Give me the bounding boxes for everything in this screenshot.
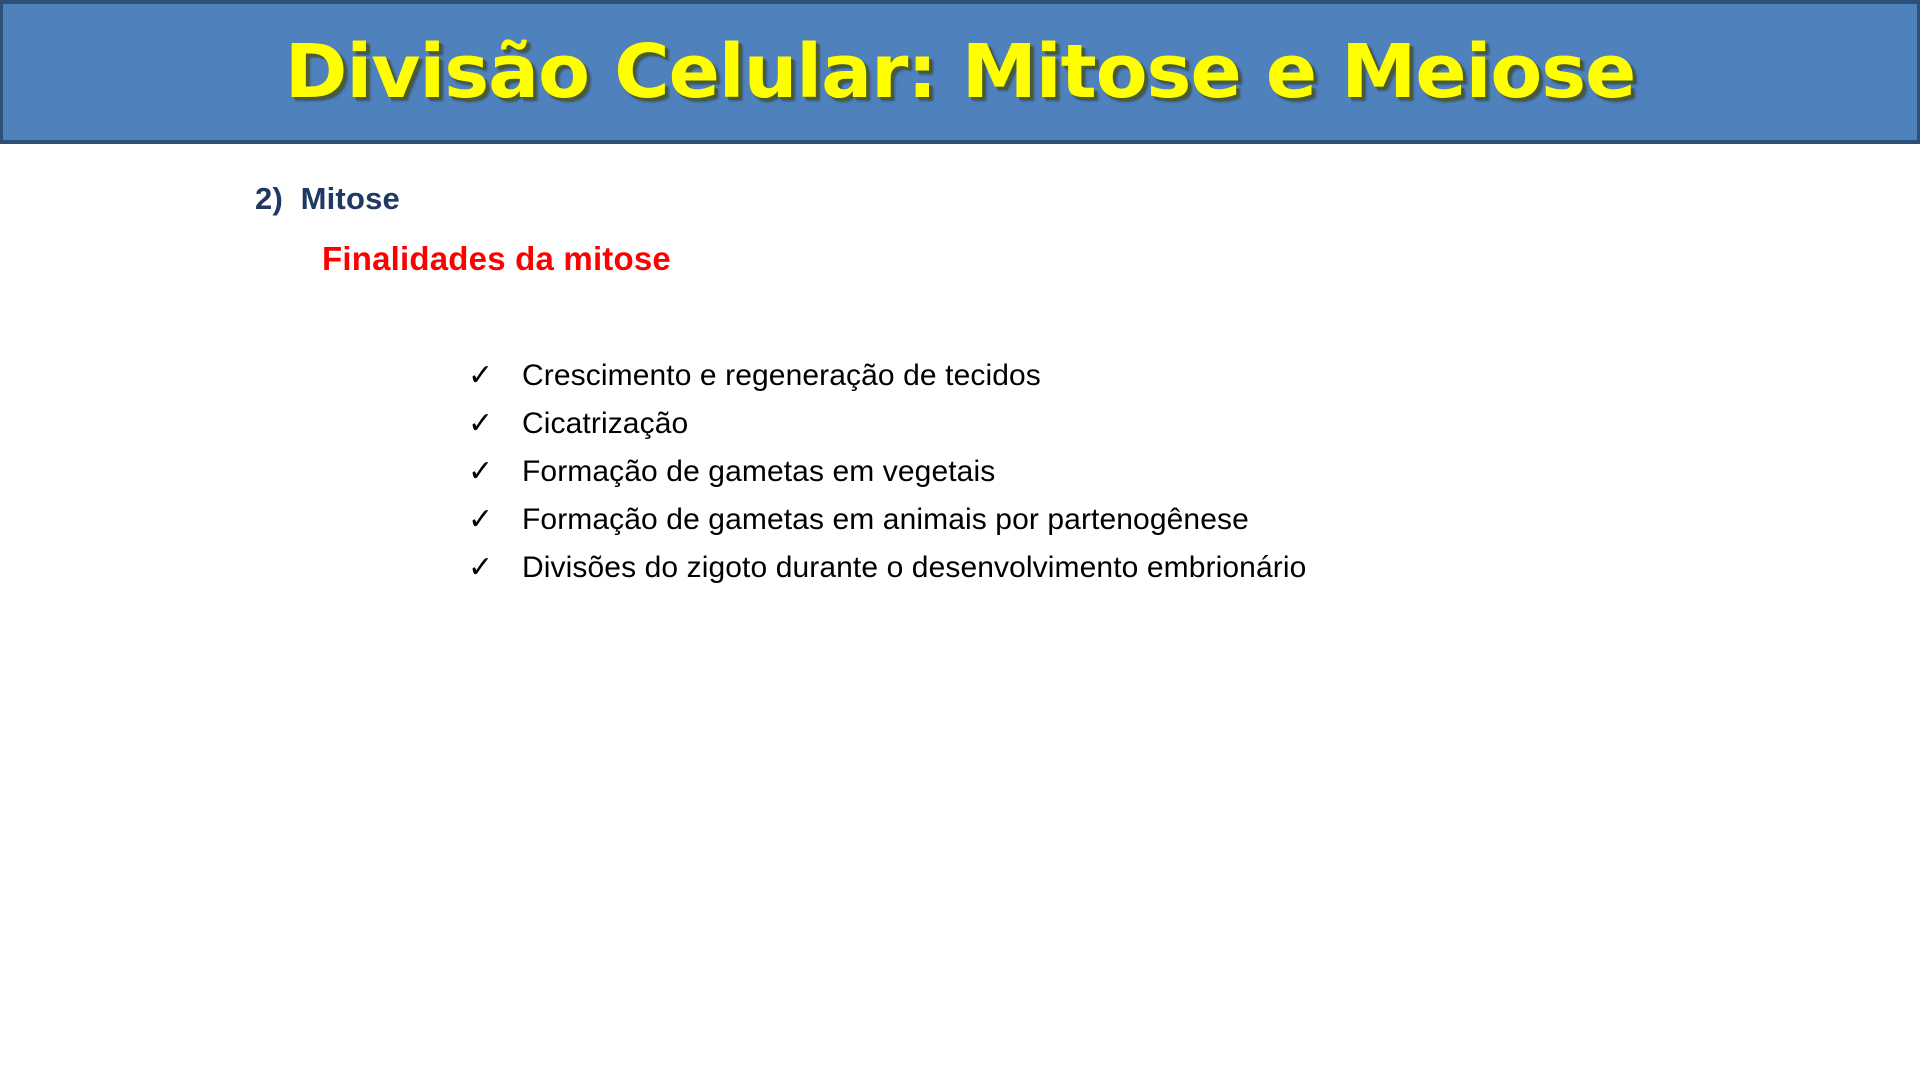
check-icon: ✓ [468, 448, 522, 496]
check-icon: ✓ [468, 352, 522, 400]
list-item: ✓ Cicatrização [468, 400, 1306, 448]
list-item-label: Cicatrização [522, 400, 688, 448]
list-item-label: Formação de gametas em vegetais [522, 448, 995, 496]
title-banner-inner: Divisão Celular: Mitose e Meiose [3, 35, 1917, 109]
check-icon: ✓ [468, 544, 522, 592]
section-heading-mitose: 2) Mitose [255, 181, 400, 217]
check-icon: ✓ [468, 400, 522, 448]
title-banner: Divisão Celular: Mitose e Meiose [0, 0, 1920, 144]
slide-content: 2) Mitose Finalidades da mitose ✓ Cresci… [0, 144, 1920, 1080]
page-title: Divisão Celular: Mitose e Meiose [285, 35, 1636, 109]
list-item: ✓ Formação de gametas em vegetais [468, 448, 1306, 496]
list-item-label: Formação de gametas em animais por parte… [522, 496, 1249, 544]
list-item: ✓ Divisões do zigoto durante o desenvolv… [468, 544, 1306, 592]
subheading-finalidades-da-mitose: Finalidades da mitose [322, 240, 671, 278]
list-item-label: Crescimento e regeneração de tecidos [522, 352, 1041, 400]
check-icon: ✓ [468, 496, 522, 544]
list-item: ✓ Crescimento e regeneração de tecidos [468, 352, 1306, 400]
list-item: ✓ Formação de gametas em animais por par… [468, 496, 1306, 544]
list-item-label: Divisões do zigoto durante o desenvolvim… [522, 544, 1306, 592]
bullet-list: ✓ Crescimento e regeneração de tecidos ✓… [468, 352, 1306, 592]
slide: Divisão Celular: Mitose e Meiose 2) Mito… [0, 0, 1920, 1080]
